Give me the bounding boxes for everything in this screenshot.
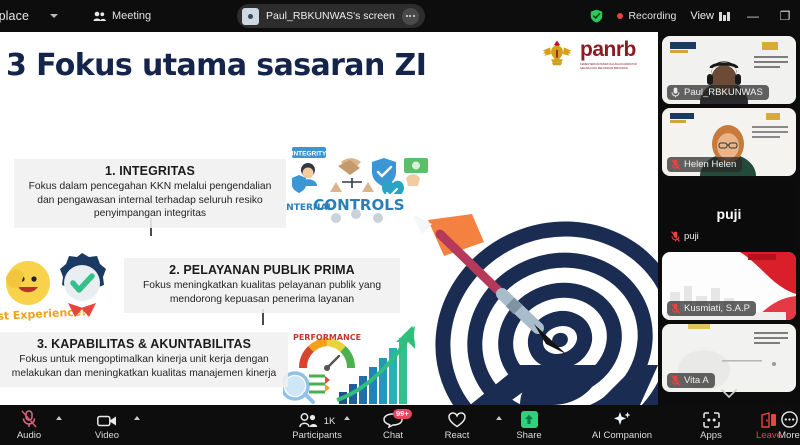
microphone-muted-icon [671, 303, 680, 314]
view-label: View [690, 10, 714, 22]
share-owner-label: Paul_RBKUNWAS's screen [266, 10, 395, 22]
focus-card-body: Fokus untuk mengoptimalkan kinerja unit … [8, 353, 280, 380]
focus-card-pelayanan: 2. PELAYANAN PUBLIK PRIMA Fokus meningka… [124, 258, 400, 313]
focus-card-heading: 3. KAPABILITAS & AKUNTABILITAS [8, 337, 280, 351]
toolbar-audio-button[interactable]: Audio [6, 405, 52, 445]
internal-controls-artwork: INTEGRITY CONTROLS INTERNAL [286, 144, 432, 226]
shield-check-icon[interactable] [590, 9, 603, 23]
participant-nametag: puji [667, 229, 705, 244]
toolbar-apps-button[interactable]: Apps [688, 405, 734, 445]
audio-options-caret[interactable] [52, 405, 66, 445]
focus-card-heading: 2. PELAYANAN PUBLIK PRIMA [132, 263, 392, 277]
top-bar-right: Recording View — ❐ [590, 0, 794, 32]
shared-screen-content[interactable]: 3 Fokus utama sasaran ZI panrb KEMENTERI… [0, 32, 658, 405]
toolbar-label: Apps [700, 430, 722, 441]
toolbar-label: Share [516, 430, 541, 441]
toolbar-ai-companion-button[interactable]: AI Companion [586, 405, 658, 445]
toolbar-label: AI Companion [592, 430, 652, 441]
workplace-label[interactable]: rkplace [0, 9, 29, 23]
maximize-button[interactable]: ❐ [776, 9, 794, 23]
toolbar-chat-button[interactable]: 99+ Chat [370, 405, 416, 445]
share-screen-icon [521, 410, 538, 428]
chevron-down-icon[interactable] [50, 14, 58, 18]
microphone-muted-icon [21, 410, 37, 428]
microphone-muted-icon [671, 159, 680, 170]
participant-name: Helen Helen [684, 159, 736, 170]
leave-door-icon [760, 410, 778, 428]
participant-nametag: Paul_RBKUNWAS [667, 85, 769, 100]
minimize-button[interactable]: — [744, 9, 762, 23]
participant-rail[interactable]: Paul_RBKUNWAS [658, 32, 800, 405]
toolbar-participants-button[interactable]: 1K Participants [294, 405, 340, 445]
meeting-label: Meeting [112, 10, 151, 22]
focus-card-heading: 1. INTEGRITAS [22, 164, 278, 178]
camera-icon [97, 410, 117, 428]
sparkles-icon [612, 410, 632, 428]
heart-icon [448, 410, 466, 428]
participants-icon: 1K [299, 410, 336, 428]
participant-name: Paul_RBKUNWAS [684, 87, 763, 98]
chevron-up-icon [344, 416, 350, 420]
participant-tile-vita[interactable]: Vita A [662, 324, 796, 392]
participant-name: puji [684, 231, 699, 242]
ellipsis-icon[interactable] [402, 8, 419, 25]
participants-count: 1K [324, 416, 336, 427]
microphone-muted-icon [671, 231, 680, 242]
top-bar: rkplace Meeting Paul_RBKUNWAS's screen [0, 0, 800, 32]
page-title: 3 Fokus utama sasaran ZI [6, 48, 426, 83]
chevron-up-icon [496, 416, 502, 420]
share-thumbnail-icon [242, 8, 259, 25]
toolbar-react-button[interactable]: React [434, 405, 480, 445]
toolbar-label: Audio [17, 430, 41, 441]
participant-tile-paul[interactable]: Paul_RBKUNWAS [662, 36, 796, 104]
panrb-word: panrb [580, 39, 646, 60]
focus-card-integritas: 1. INTEGRITAS Fokus dalam pencegahan KKN… [14, 159, 286, 228]
share-options-caret[interactable] [492, 405, 506, 445]
participant-tile-helen[interactable]: Helen Helen [662, 108, 796, 176]
people-icon [93, 11, 106, 22]
layout-icon [719, 12, 730, 21]
participant-tile-kusmiati[interactable]: Kusmiati, S.A.P [662, 252, 796, 320]
panrb-logo: panrb KEMENTERIAN PENDAYAGUNAAN APARATUR… [540, 38, 646, 72]
participant-nametag: Kusmiati, S.A.P [667, 301, 756, 316]
participant-name: Kusmiati, S.A.P [684, 303, 750, 314]
record-dot-icon [617, 13, 623, 19]
toolbar-label: Video [95, 430, 119, 441]
chevron-up-icon [56, 416, 62, 420]
view-button[interactable]: View [690, 10, 730, 22]
participant-nametag: Helen Helen [667, 157, 742, 172]
best-experience-artwork: Best Experience! [0, 247, 118, 331]
focus-card-body: Fokus dalam pencegahan KKN melalui penge… [22, 180, 278, 221]
chevron-down-icon [721, 389, 737, 398]
recording-label: Recording [628, 10, 676, 22]
meeting-tab[interactable]: Meeting [93, 10, 151, 22]
toolbar-video-button[interactable]: Video [84, 405, 130, 445]
apps-icon [703, 410, 720, 428]
svg-text:PERFORMANCE: PERFORMANCE [293, 333, 361, 342]
toolbar-label: Participants [292, 430, 342, 441]
panrb-wordmark: panrb KEMENTERIAN PENDAYAGUNAAN APARATUR… [580, 39, 646, 71]
toolbar-share-button[interactable]: Share [506, 405, 552, 445]
recording-indicator[interactable]: Recording [617, 10, 676, 22]
video-options-caret[interactable] [130, 405, 144, 445]
top-bar-left: rkplace Meeting [0, 9, 151, 23]
toolbar-label: Leave [756, 430, 782, 441]
performance-artwork: PERFORMANCE [283, 314, 415, 405]
toolbar-label: Chat [383, 430, 403, 441]
garuda-emblem-icon [540, 38, 574, 72]
focus-card-kapabilitas: 3. KAPABILITAS & AKUNTABILITAS Fokus unt… [0, 332, 288, 387]
toolbar-leave-button[interactable]: Leave [746, 405, 792, 445]
participants-options-caret[interactable] [340, 405, 354, 445]
focus-card-body: Fokus meningkatkan kualitas pelayanan pu… [132, 279, 392, 306]
microphone-muted-icon [671, 87, 680, 98]
chevron-up-icon [134, 416, 140, 420]
rail-scroll-down-button[interactable] [658, 385, 800, 401]
svg-text:INTERNAL: INTERNAL [286, 203, 333, 213]
toolbar-label: React [445, 430, 470, 441]
participant-tile-puji[interactable]: puji puji [662, 180, 796, 248]
meeting-toolbar: Audio Video 1K Par [0, 405, 800, 445]
svg-text:INTEGRITY: INTEGRITY [292, 151, 327, 158]
zoom-meeting-window: rkplace Meeting Paul_RBKUNWAS's screen [0, 0, 800, 445]
panrb-subtext: KEMENTERIAN PENDAYAGUNAAN APARATUR NEGAR… [580, 63, 646, 71]
chat-unread-badge: 99+ [393, 409, 412, 419]
screen-share-indicator[interactable]: Paul_RBKUNWAS's screen [237, 4, 425, 28]
